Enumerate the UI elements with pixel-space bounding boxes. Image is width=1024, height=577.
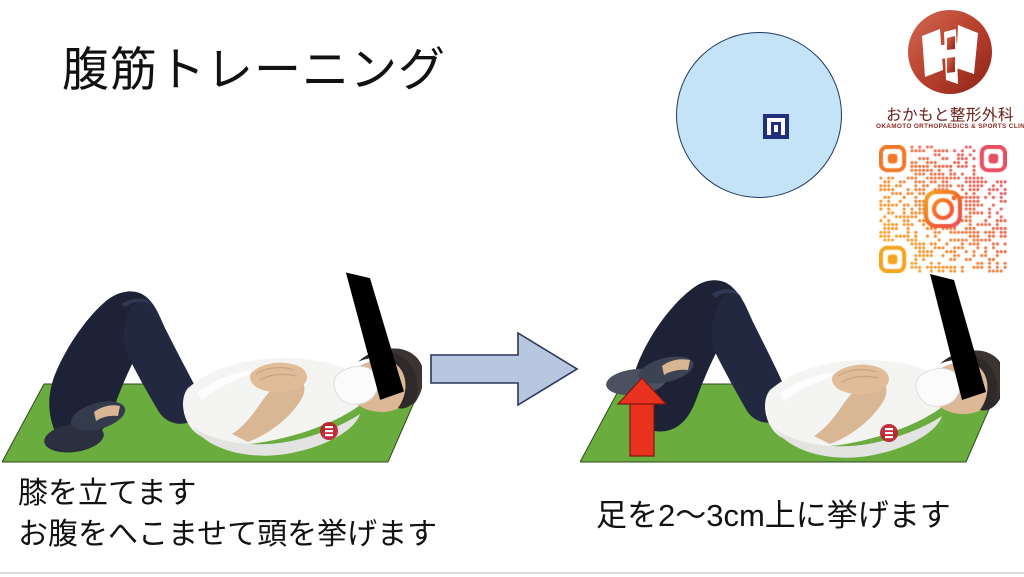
instagram-qr-code[interactable] (879, 145, 1007, 273)
slide-canvas: 腹筋トレーニング (0, 0, 1024, 577)
circle-badge (676, 32, 842, 198)
caption-right: 足を2〜3cm上に挙げます (596, 495, 951, 537)
clinic-name: おかもと整形外科 (876, 103, 1024, 125)
bottom-divider (0, 572, 1024, 574)
caption-left: 膝を立てます お腹をへこませて頭を挙げます (18, 474, 437, 555)
square-glyph-icon (763, 114, 789, 139)
figure-before-photo (2, 266, 422, 466)
clinic-logo-mark-icon (906, 8, 994, 96)
qr-canvas (879, 145, 1007, 273)
clinic-subtitle: OKAMOTO ORTHOPAEDICS & SPORTS CLINIC (876, 123, 1024, 130)
page-title: 腹筋トレーニング (62, 44, 446, 97)
figure-after-photo (580, 266, 1000, 466)
clinic-logo: おかもと整形外科 OKAMOTO ORTHOPAEDICS & SPORTS C… (876, 6, 1024, 138)
transition-arrow-icon (428, 330, 580, 408)
